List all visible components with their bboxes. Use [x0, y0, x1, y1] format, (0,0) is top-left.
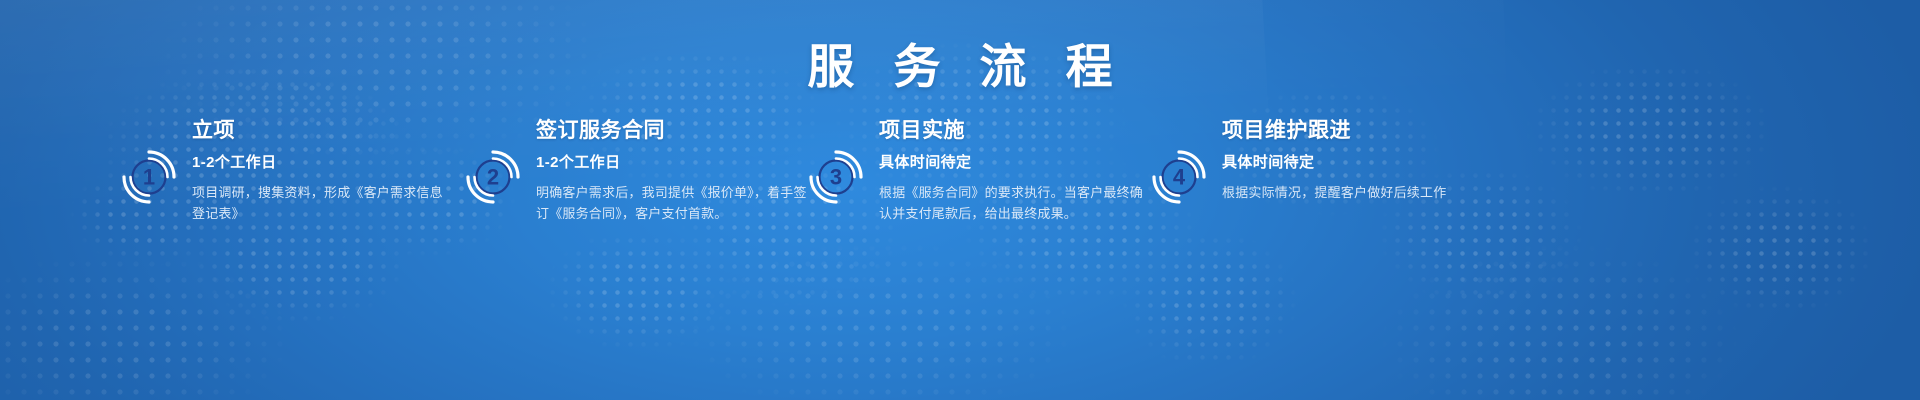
circled-number-2-icon: 2: [462, 146, 524, 208]
step-title-1: 立项: [192, 118, 448, 144]
step-number-badge-4: 4: [1148, 146, 1210, 208]
step-text-4: 项目维护跟进 具体时间待定 根据实际情况，提醒客户做好后续工作: [1222, 118, 1498, 203]
step-number-badge-1: 1: [118, 146, 180, 208]
step-description-4: 根据实际情况，提醒客户做好后续工作: [1222, 182, 1498, 203]
step-title-3: 项目实施: [879, 118, 1150, 144]
process-steps-list: 1 立项 1-2个工作日 项目调研，搜集资料，形成《客户需求信息登记表》 2: [0, 118, 1920, 298]
circled-number-1-icon: 1: [118, 146, 180, 208]
svg-text:3: 3: [830, 165, 842, 190]
step-duration-3: 具体时间待定: [879, 153, 1150, 172]
circled-number-3-icon: 3: [805, 146, 867, 208]
process-step-2: 2 签订服务合同 1-2个工作日 明确客户需求后，我司提供《报价单》，着手签订《…: [462, 118, 807, 224]
step-number-badge-2: 2: [462, 146, 524, 208]
page-title: 服 务 流 程: [0, 28, 1920, 97]
step-description-1: 项目调研，搜集资料，形成《客户需求信息登记表》: [192, 182, 448, 224]
step-number-badge-3: 3: [805, 146, 867, 208]
step-text-3: 项目实施 具体时间待定 根据《服务合同》的要求执行。当客户最终确认并支付尾款后，…: [879, 118, 1150, 224]
svg-text:4: 4: [1173, 165, 1186, 190]
step-text-2: 签订服务合同 1-2个工作日 明确客户需求后，我司提供《报价单》，着手签订《服务…: [536, 118, 807, 224]
svg-text:2: 2: [487, 165, 499, 190]
process-step-3: 3 项目实施 具体时间待定 根据《服务合同》的要求执行。当客户最终确认并支付尾款…: [805, 118, 1150, 224]
process-step-1: 1 立项 1-2个工作日 项目调研，搜集资料，形成《客户需求信息登记表》: [118, 118, 448, 224]
svg-text:1: 1: [143, 165, 155, 190]
step-duration-4: 具体时间待定: [1222, 153, 1498, 172]
step-description-3: 根据《服务合同》的要求执行。当客户最终确认并支付尾款后，给出最终成果。: [879, 182, 1150, 224]
step-duration-2: 1-2个工作日: [536, 153, 807, 172]
step-text-1: 立项 1-2个工作日 项目调研，搜集资料，形成《客户需求信息登记表》: [192, 118, 448, 224]
step-title-4: 项目维护跟进: [1222, 118, 1498, 144]
step-description-2: 明确客户需求后，我司提供《报价单》，着手签订《服务合同》，客户支付首款。: [536, 182, 807, 224]
process-step-4: 4 项目维护跟进 具体时间待定 根据实际情况，提醒客户做好后续工作: [1148, 118, 1498, 208]
step-title-2: 签订服务合同: [536, 118, 807, 144]
service-process-banner: 服 务 流 程 1 立项 1-2个工作日 项目调研，搜集资料，形成《客户需求信息…: [0, 0, 1920, 400]
step-duration-1: 1-2个工作日: [192, 153, 448, 172]
circled-number-4-icon: 4: [1148, 146, 1210, 208]
